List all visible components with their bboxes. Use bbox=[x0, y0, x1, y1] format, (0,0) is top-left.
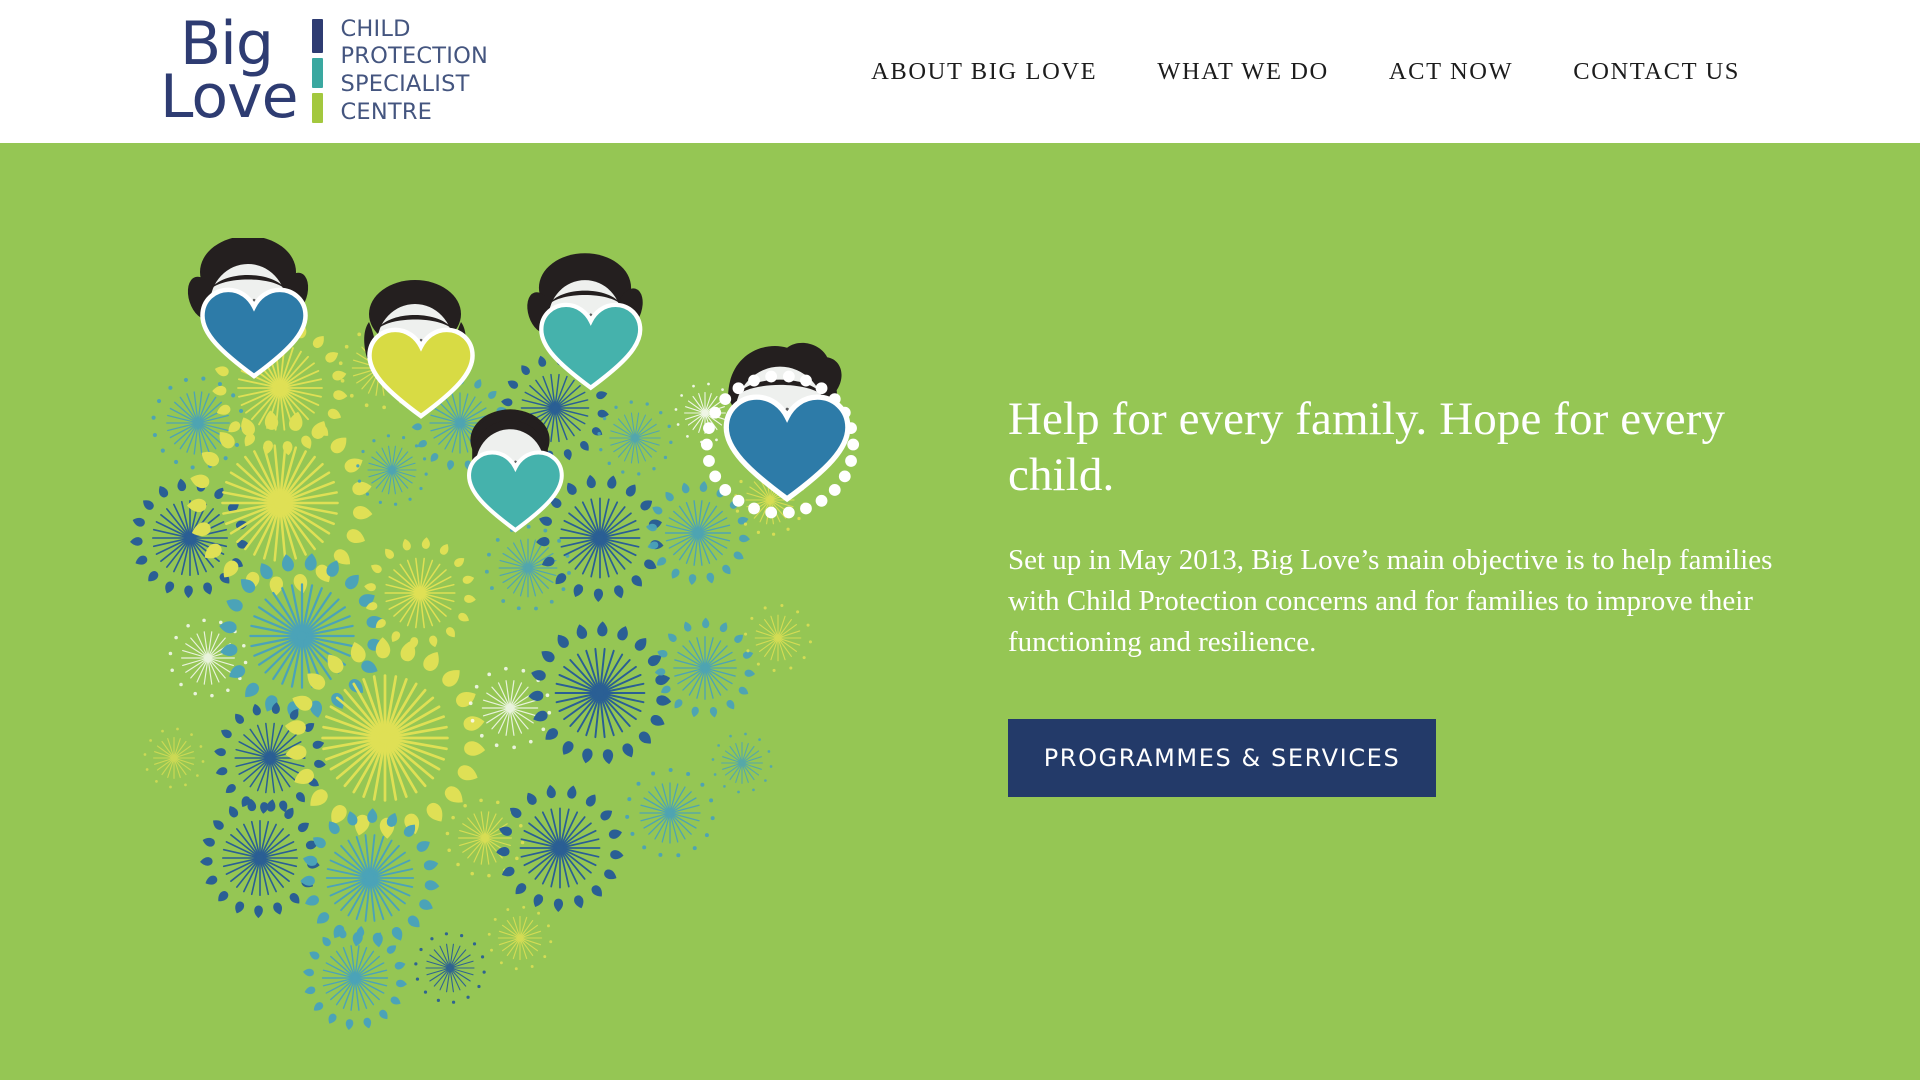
logo-descriptor-line-2: PROTECTION bbox=[341, 43, 489, 71]
site-logo[interactable]: Big Love CHILD PROTECTION SPECIALIST CEN… bbox=[160, 14, 488, 128]
page-root: Big Love CHILD PROTECTION SPECIALIST CEN… bbox=[0, 0, 1920, 1080]
programmes-and-services-button[interactable]: PROGRAMMES & SERVICES bbox=[1008, 719, 1436, 797]
nav-item-act-now[interactable]: ACT NOW bbox=[1359, 48, 1543, 96]
hero-title: Help for every family. Hope for every ch… bbox=[1008, 391, 1808, 504]
logo-bar-teal-icon bbox=[312, 58, 323, 88]
site-header: Big Love CHILD PROTECTION SPECIALIST CEN… bbox=[0, 0, 1920, 143]
logo-word-love: Love bbox=[160, 71, 298, 124]
nav-item-about-big-love[interactable]: ABOUT BIG LOVE bbox=[841, 48, 1127, 96]
logo-bar-navy-icon bbox=[312, 19, 323, 53]
logo-descriptor-line-1: CHILD bbox=[341, 16, 489, 44]
hero-body-text: Set up in May 2013, Big Love’s main obje… bbox=[1008, 540, 1798, 664]
hero-section: Help for every family. Hope for every ch… bbox=[0, 143, 1920, 1080]
nav-item-what-we-do[interactable]: WHAT WE DO bbox=[1127, 48, 1359, 96]
main-navigation: ABOUT BIG LOVE WHAT WE DO ACT NOW CONTAC… bbox=[841, 0, 1770, 143]
logo-descriptor-line-4: CENTRE bbox=[341, 99, 489, 127]
hero-copy: Help for every family. Hope for every ch… bbox=[1008, 391, 1828, 797]
hero-illustration bbox=[130, 238, 960, 1038]
logo-wordmark: Big Love bbox=[160, 18, 298, 124]
logo-bars-icon bbox=[312, 19, 323, 123]
nav-item-contact-us[interactable]: CONTACT US bbox=[1543, 48, 1770, 96]
logo-descriptor-line-3: SPECIALIST bbox=[341, 71, 489, 99]
logo-descriptor: CHILD PROTECTION SPECIALIST CENTRE bbox=[341, 19, 489, 123]
logo-bar-green-icon bbox=[312, 93, 323, 123]
